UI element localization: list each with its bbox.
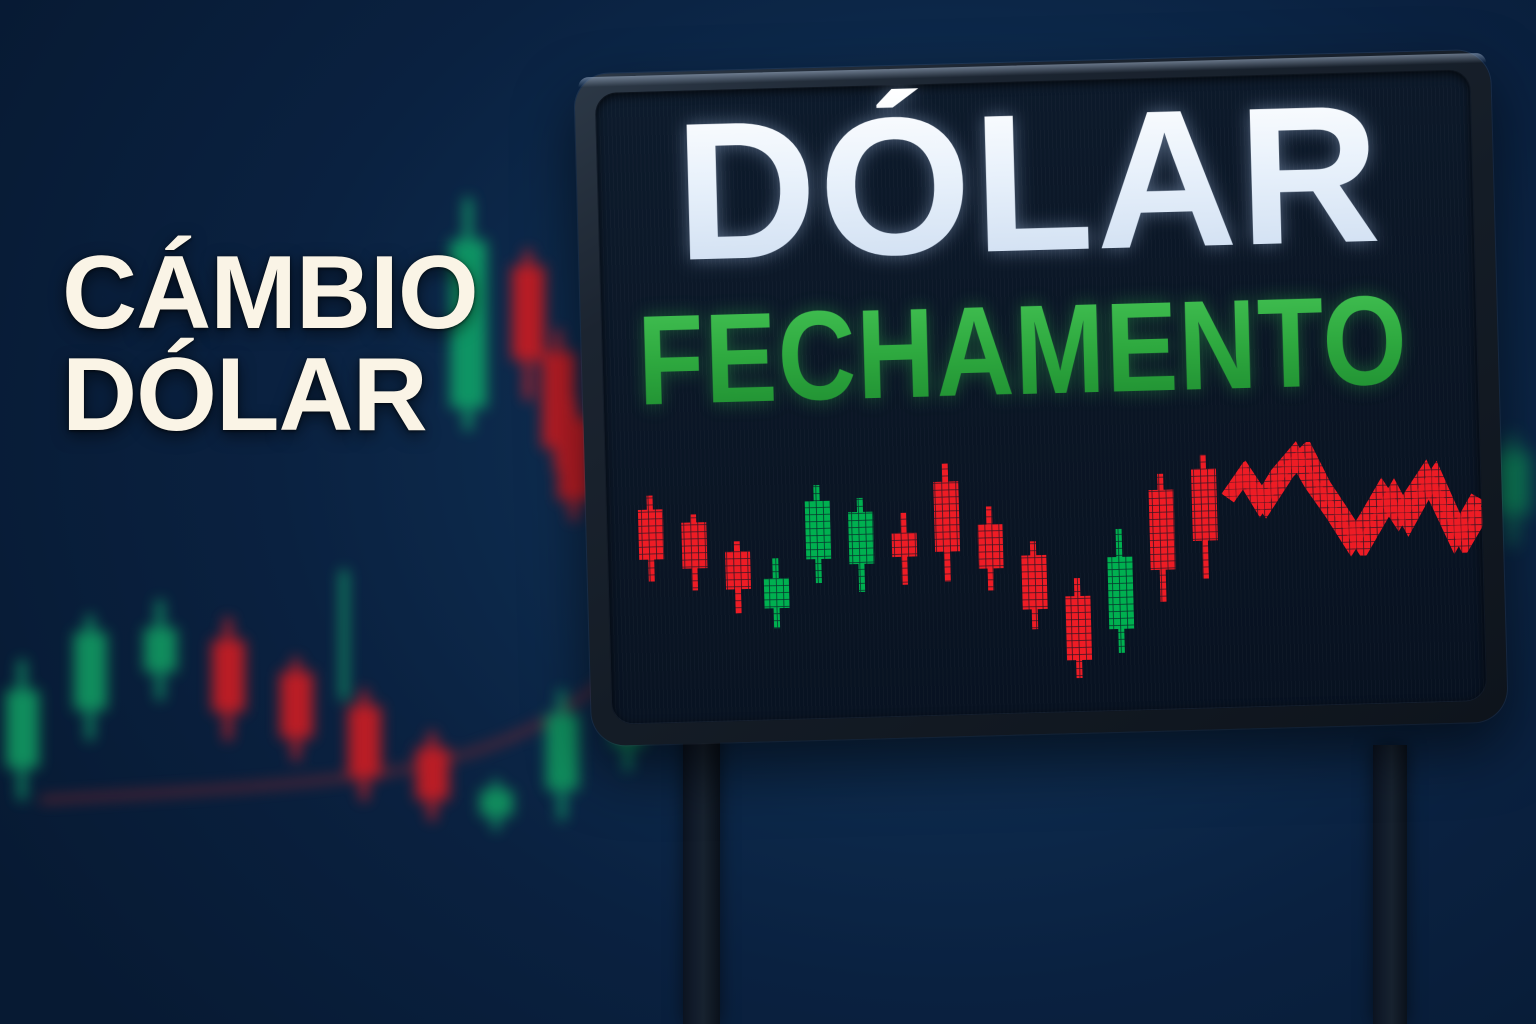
scene-root: CÁMBIO DÓLAR DÓLAR FECHAMENTO — [0, 0, 1536, 1024]
billboard-post-right — [1373, 745, 1407, 1024]
billboard-screen: DÓLAR FECHAMENTO — [595, 69, 1488, 724]
screen-candlestick-chart — [595, 69, 1488, 724]
billboard: DÓLAR FECHAMENTO — [574, 50, 1508, 747]
page-title: CÁMBIO DÓLAR — [62, 243, 532, 447]
headline-line-1: CÁMBIO — [62, 235, 478, 351]
headline-line-2: DÓLAR — [62, 345, 532, 447]
billboard-post-left — [683, 712, 720, 1024]
